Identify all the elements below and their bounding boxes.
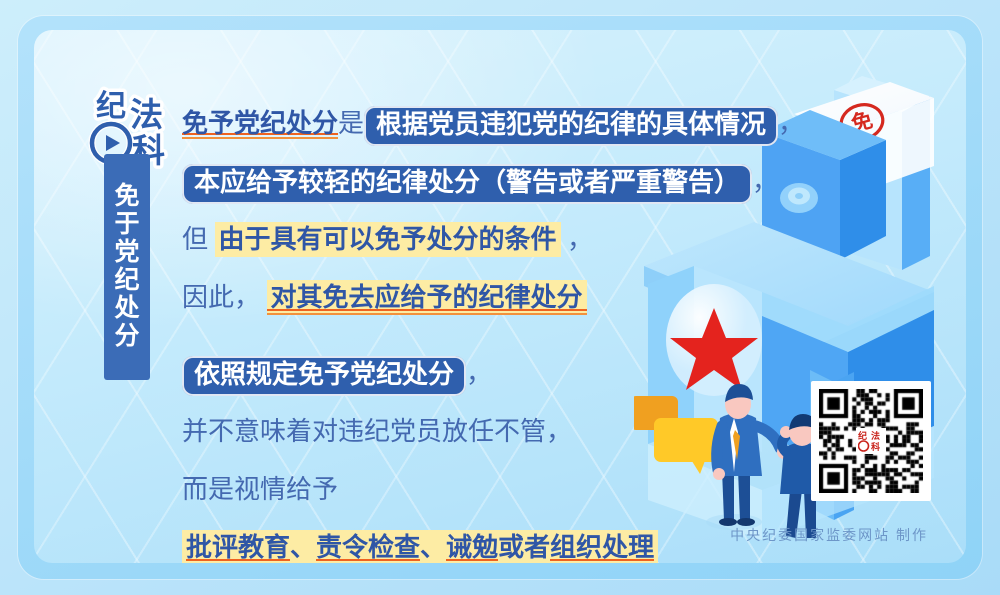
- measure-sep-3: 或者: [498, 533, 550, 562]
- text-line-7: 而是视情给予: [182, 468, 782, 512]
- line1-comma: ，: [778, 109, 804, 138]
- line6-text: 并不意味着对违纪党员放任不管，: [182, 417, 572, 446]
- body-copy: 免予党纪处分是根据党员违犯党的纪律的具体情况， 本应给予较轻的纪律处分（警告或者…: [182, 102, 782, 563]
- pill-yizhao-guiding: 依照规定免予党纪处分: [182, 356, 466, 396]
- svg-text:纪: 纪: [858, 430, 867, 441]
- measure-zeling-jiancha: 责令检查: [316, 533, 420, 563]
- play-icon: [106, 135, 120, 151]
- measure-sep-1: 、: [290, 533, 316, 562]
- highlight-mianqu-chufen: 对其免去应给予的纪律处分: [267, 280, 587, 315]
- svg-text:法: 法: [130, 97, 163, 134]
- line7-text: 而是视情给予: [182, 475, 338, 504]
- vertical-char-3: 纪: [114, 267, 139, 295]
- text-line-2: 本应给予较轻的纪律处分（警告或者严重警告），: [182, 160, 782, 204]
- line3-comma: ，: [561, 225, 594, 254]
- infographic-canvas: 免: [0, 0, 1000, 595]
- line5-comma: ，: [466, 359, 492, 388]
- line2-comma: ，: [752, 167, 778, 196]
- highlight-measures-list: 批评教育、责令检查、诫勉或者组织处理: [182, 530, 658, 563]
- qr-code[interactable]: 纪 法 科: [811, 381, 931, 501]
- line1-connector: 是: [338, 109, 364, 138]
- svg-text:法: 法: [871, 430, 880, 441]
- measure-piping-jiaoyu: 批评教育: [186, 533, 290, 563]
- vertical-title-banner: 免 于 党 纪 处 分: [104, 154, 150, 380]
- text-line-8: 批评教育、责令检查、诫勉或者组织处理: [182, 526, 782, 563]
- vertical-char-1: 于: [114, 211, 139, 239]
- pill-genju-qingkuang: 根据党员违犯党的纪律的具体情况: [364, 106, 778, 146]
- inner-frame: 免: [34, 30, 966, 563]
- text-line-5: 依照规定免予党纪处分，: [182, 352, 782, 396]
- vertical-char-2: 党: [114, 239, 139, 267]
- qr-center-logo: 纪 法 科: [856, 428, 886, 454]
- vertical-char-4: 处: [114, 295, 139, 323]
- vertical-char-5: 分: [114, 323, 139, 351]
- measure-sep-2: 、: [420, 533, 446, 562]
- measure-zuzhi-chuli: 组织处理: [550, 533, 654, 563]
- text-line-6: 并不意味着对违纪党员放任不管，: [182, 410, 782, 454]
- text-line-3: 但 由于具有可以免予处分的条件 ，: [182, 218, 782, 262]
- measure-jiemian: 诫勉: [446, 533, 498, 563]
- term-mianyu-dangji-chufen: 免予党纪处分: [182, 109, 338, 140]
- credit-text: 中央纪委国家监委网站 制作: [730, 525, 928, 545]
- svg-text:科: 科: [871, 441, 880, 452]
- brand-block: 纪 法 科 纪 法 科 免 于 党 纪 处 分: [86, 82, 178, 168]
- pill-benying-jiyu: 本应给予较轻的纪律处分（警告或者严重警告）: [182, 164, 752, 204]
- line3-prefix: 但: [182, 225, 215, 254]
- vertical-char-0: 免: [114, 183, 139, 211]
- dial-knob: [780, 183, 818, 213]
- text-line-4: 因此， 对其免去应给予的纪律处分: [182, 276, 782, 320]
- svg-text:纪: 纪: [96, 90, 126, 123]
- line4-prefix: 因此，: [182, 283, 267, 312]
- text-line-1: 免予党纪处分是根据党员违犯党的纪律的具体情况，: [182, 102, 782, 146]
- highlight-youyu-tiaojian: 由于具有可以免予处分的条件: [215, 222, 561, 257]
